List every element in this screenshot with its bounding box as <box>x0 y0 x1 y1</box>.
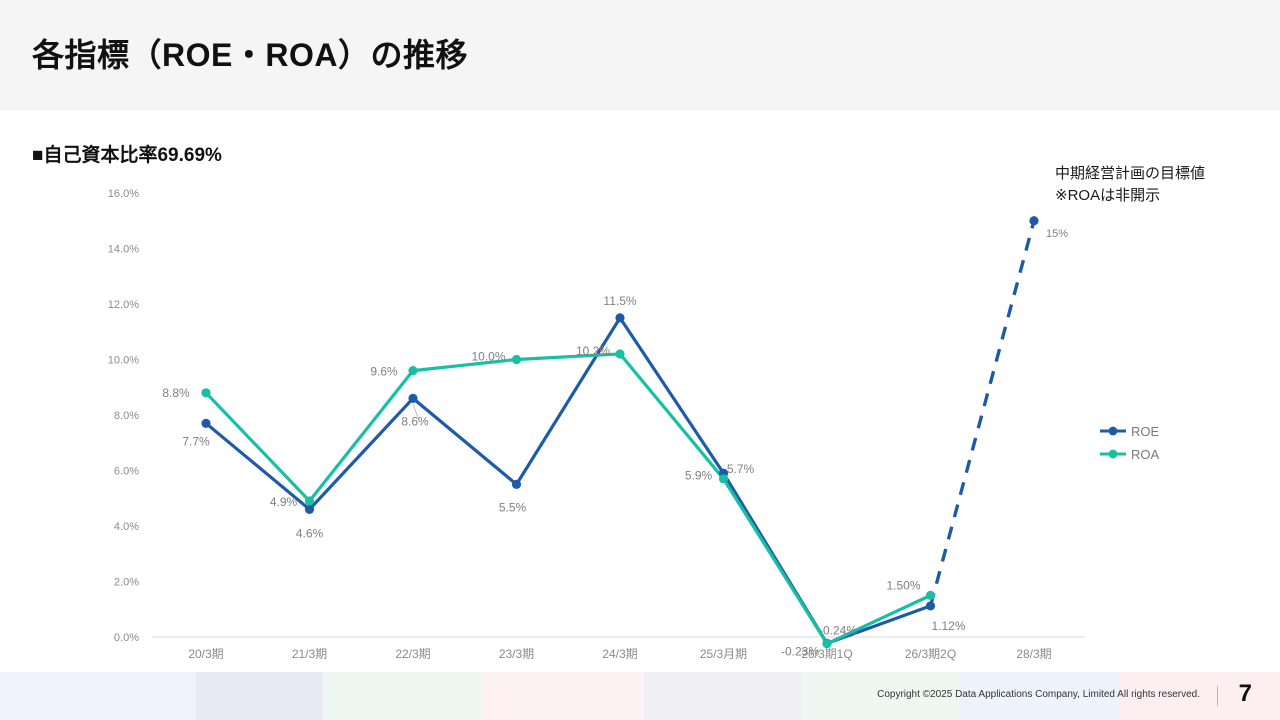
data-label-roe: 1.12% <box>931 619 965 633</box>
target-annotation: 中期経営計画の目標値 ※ROAは非開示 <box>1055 163 1205 207</box>
data-label-roa: 8.8% <box>162 386 190 400</box>
y-axis-tick-label: 10.0% <box>108 355 139 367</box>
data-point-roa <box>926 591 935 600</box>
y-axis-tick-label: 2.0% <box>114 577 139 589</box>
data-label-roa: 9.6% <box>370 365 398 379</box>
data-point-roe <box>305 505 314 514</box>
footer-color-band-1 <box>0 672 196 720</box>
slide: 各指標（ROE・ROA）の推移 ■自己資本比率69.69% 中期経営計画の目標値… <box>0 0 1280 720</box>
data-point-roe <box>408 394 417 403</box>
x-axis-tick-label: 21/3期 <box>292 647 327 661</box>
data-label-roa: 10.0% <box>471 350 505 364</box>
y-axis-tick-label: 0.0% <box>114 632 139 644</box>
x-axis-tick-label: 25/3月期 <box>700 647 747 661</box>
target-projection-dashed-line <box>931 221 1035 606</box>
data-label-roe: 11.5% <box>603 294 636 308</box>
x-axis-tick-label: 24/3期 <box>602 647 637 661</box>
data-point-roe <box>615 313 624 322</box>
data-label-roa: 4.9% <box>270 495 298 509</box>
data-label-roe: -0.23% <box>781 644 819 658</box>
data-label-roa: 10.2% <box>576 344 610 358</box>
legend-label-roa: ROA <box>1131 447 1160 462</box>
x-axis-tick-label: 28/3期 <box>1016 647 1051 661</box>
data-point-roe <box>719 469 728 478</box>
data-label-roe: 4.6% <box>296 526 324 540</box>
data-point-roe <box>512 480 521 489</box>
data-point-roa <box>615 349 624 358</box>
data-label-roe: 5.5% <box>499 500 527 514</box>
leader-line-8-6 <box>413 404 419 420</box>
y-axis-tick-label: 14.0% <box>108 244 139 256</box>
x-axis-tick-label: 20/3期 <box>188 647 223 661</box>
data-point-roa <box>408 366 417 375</box>
equity-ratio-subtitle: ■自己資本比率69.69% <box>32 140 222 167</box>
data-label-roe: 7.7% <box>182 434 210 448</box>
data-label-roe: 5.9% <box>685 468 713 482</box>
legend-label-roe: ROE <box>1131 424 1160 439</box>
data-point-roa <box>305 496 314 505</box>
page-number: 7 <box>1239 680 1252 708</box>
page-title: 各指標（ROE・ROA）の推移 <box>32 30 468 76</box>
data-label-roa: 5.7% <box>727 462 755 476</box>
legend-marker-roe <box>1109 427 1118 436</box>
series-line-roa <box>206 354 931 644</box>
data-point-roa <box>822 639 831 648</box>
data-label-roa: -0.24% <box>819 624 857 638</box>
footer-color-band-5 <box>644 672 802 720</box>
footer-color-band-4 <box>481 672 644 720</box>
data-point-roe <box>926 601 935 610</box>
copyright-text: Copyright ©2025 Data Applications Compan… <box>877 689 1200 700</box>
y-axis-tick-label: 16.0% <box>108 188 139 200</box>
series-line-roe <box>206 318 931 644</box>
data-label-target: 15% <box>1046 228 1068 240</box>
x-axis-tick-label: 22/3期 <box>395 647 430 661</box>
y-axis-tick-label: 12.0% <box>108 299 139 311</box>
x-axis-tick-label: 26/3期1Q <box>801 647 852 661</box>
target-annotation-line1: 中期経営計画の目標値 <box>1055 163 1205 185</box>
data-label-roe: 8.6% <box>401 414 429 428</box>
y-axis-tick-label: 8.0% <box>114 410 139 422</box>
data-point-target <box>1029 216 1038 225</box>
x-axis-tick-label: 26/3期2Q <box>905 647 956 661</box>
footer-divider <box>1217 686 1218 706</box>
legend-marker-roa <box>1109 450 1118 459</box>
data-point-roe <box>822 639 831 648</box>
data-label-roa: 1.50% <box>886 578 920 592</box>
data-point-roa <box>719 474 728 483</box>
footer: Copyright ©2025 Data Applications Compan… <box>0 672 1280 720</box>
data-point-roa <box>512 355 521 364</box>
x-axis-tick-label: 23/3期 <box>499 647 534 661</box>
footer-color-band-3 <box>323 672 481 720</box>
data-point-roe <box>201 419 210 428</box>
y-axis-tick-label: 4.0% <box>114 521 139 533</box>
y-axis-tick-label: 6.0% <box>114 466 139 478</box>
footer-color-band-2 <box>196 672 323 720</box>
target-annotation-line2: ※ROAは非開示 <box>1055 185 1205 207</box>
data-point-roa <box>201 388 210 397</box>
